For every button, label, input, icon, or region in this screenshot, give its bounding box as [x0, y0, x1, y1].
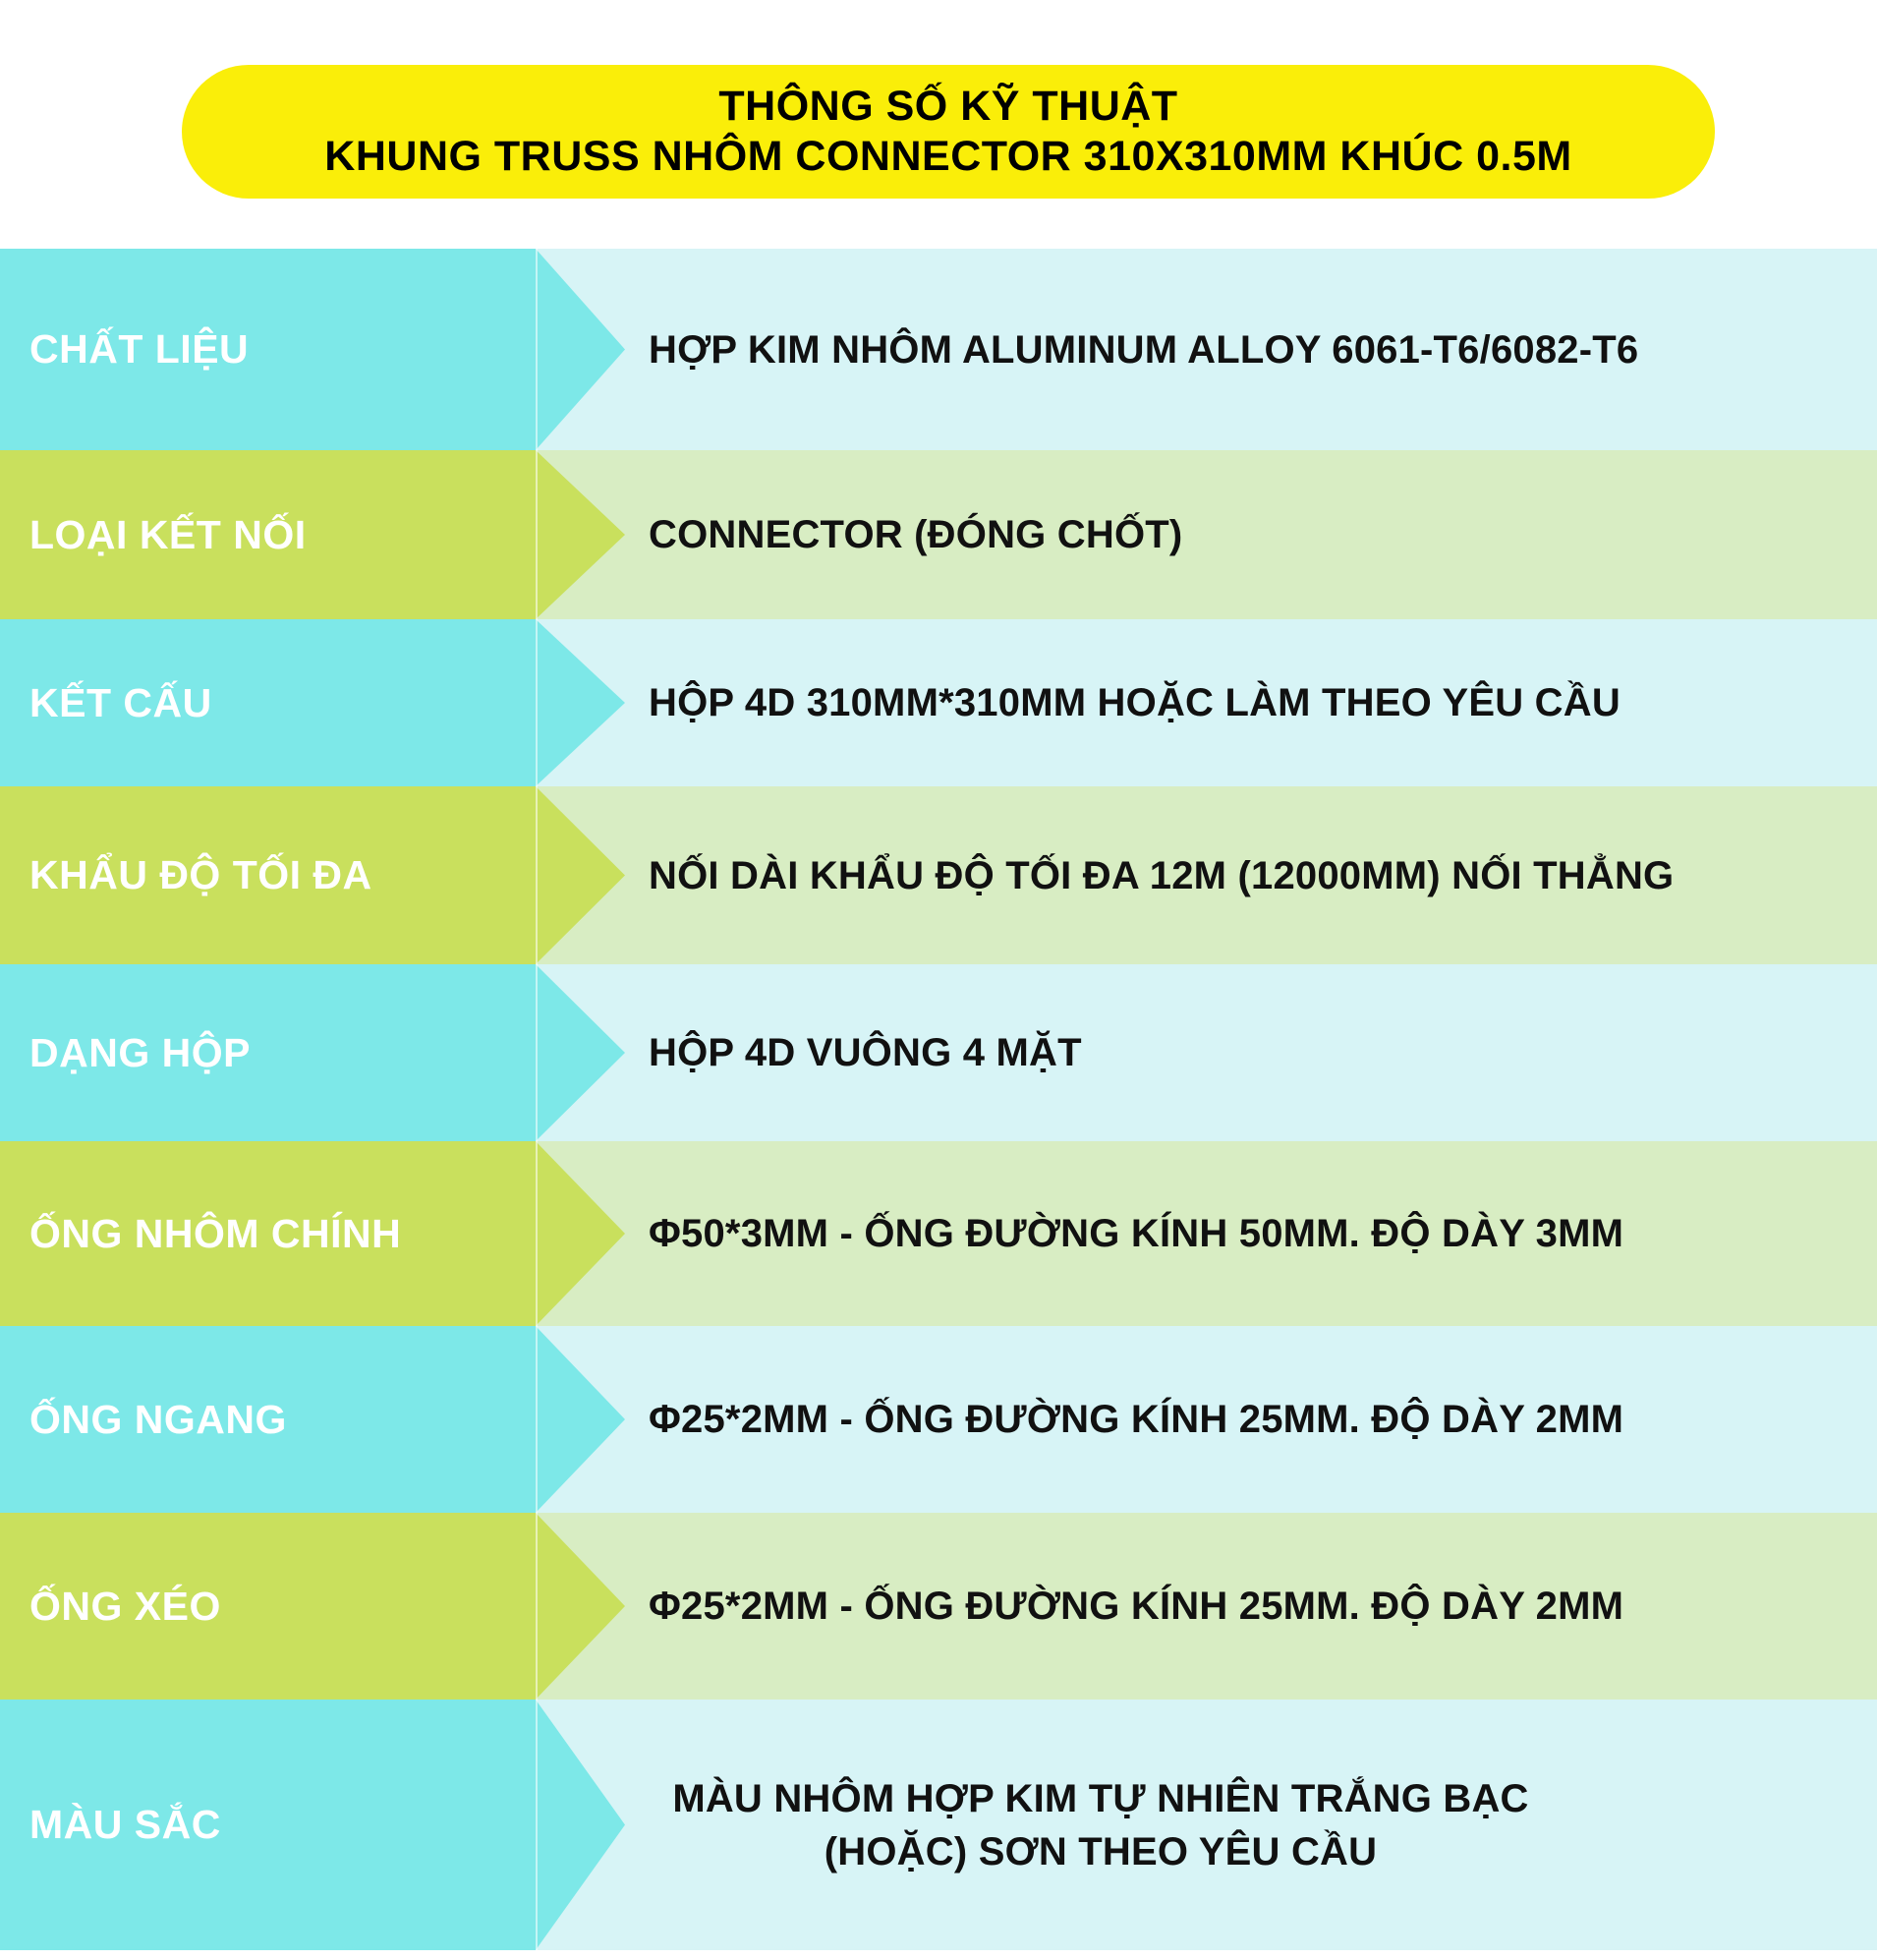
spec-row: CHẤT LIỆUHỢP KIM NHÔM ALUMINUM ALLOY 606… [0, 249, 1877, 450]
spec-row: ỐNG XÉOΦ25*2MM - ỐNG ĐƯỜNG KÍNH 25MM. ĐỘ… [0, 1513, 1877, 1700]
spec-label-text: ỐNG NGANG [29, 1398, 521, 1442]
spec-value-text: Φ50*3MM - ỐNG ĐƯỜNG KÍNH 50MM. ĐỘ DÀY 3M… [649, 1207, 1867, 1260]
spec-value-text: Φ25*2MM - ỐNG ĐƯỜNG KÍNH 25MM. ĐỘ DÀY 2M… [649, 1580, 1867, 1633]
spec-value-text: CONNECTOR (ĐÓNG CHỐT) [649, 508, 1867, 561]
spec-row: MÀU SẮCMÀU NHÔM HỢP KIM TỰ NHIÊN TRẮNG B… [0, 1700, 1877, 1950]
spec-value-text: Φ25*2MM - ỐNG ĐƯỜNG KÍNH 25MM. ĐỘ DÀY 2M… [649, 1393, 1867, 1446]
spec-value-line-1: MÀU NHÔM HỢP KIM TỰ NHIÊN TRẮNG BẠC [649, 1772, 1553, 1825]
spec-row: LOẠI KẾT NỐICONNECTOR (ĐÓNG CHỐT) [0, 450, 1877, 619]
label-divider [536, 786, 538, 964]
spec-row: KHẨU ĐỘ TỐI ĐANỐI DÀI KHẨU ĐỘ TỐI ĐA 12M… [0, 786, 1877, 964]
label-divider [536, 1700, 538, 1950]
spec-label-text: KẾT CẤU [29, 681, 521, 725]
label-divider [536, 619, 538, 786]
title-banner-area: THÔNG SỐ KỸ THUẬT KHUNG TRUSS NHÔM CONNE… [0, 0, 1877, 211]
spec-value-line-2: (HOẶC) SƠN THEO YÊU CẦU [649, 1825, 1553, 1878]
title-banner: THÔNG SỐ KỸ THUẬT KHUNG TRUSS NHÔM CONNE… [182, 65, 1715, 199]
spec-label-text: ỐNG NHÔM CHÍNH [29, 1212, 521, 1256]
spec-value-text: HỘP 4D 310MM*310MM HOẶC LÀM THEO YÊU CẦU [649, 676, 1867, 729]
spec-label-text: CHẤT LIỆU [29, 327, 521, 372]
spec-value-text: MÀU NHÔM HỢP KIM TỰ NHIÊN TRẮNG BẠC(HOẶC… [649, 1772, 1553, 1878]
label-divider [536, 450, 538, 619]
title-line-1: THÔNG SỐ KỸ THUẬT [718, 82, 1177, 132]
spec-row: DẠNG HỘPHỘP 4D VUÔNG 4 MẶT [0, 964, 1877, 1141]
label-divider [536, 1513, 538, 1700]
label-divider [536, 249, 538, 450]
spec-value-text: HỢP KIM NHÔM ALUMINUM ALLOY 6061-T6/6082… [649, 323, 1867, 376]
spec-value-text: HỘP 4D VUÔNG 4 MẶT [649, 1026, 1867, 1079]
title-line-2: KHUNG TRUSS NHÔM CONNECTOR 310X310MM KHÚ… [324, 132, 1571, 182]
spec-value-text: NỐI DÀI KHẨU ĐỘ TỐI ĐA 12M (12000MM) NỐI… [649, 849, 1867, 902]
spec-row: KẾT CẤU HỘP 4D 310MM*310MM HOẶC LÀM THEO… [0, 619, 1877, 786]
label-divider [536, 1326, 538, 1513]
spec-label-text: LOẠI KẾT NỐI [29, 513, 521, 557]
spec-label-text: DẠNG HỘP [29, 1031, 521, 1075]
spec-label-text: MÀU SẮC [29, 1803, 521, 1847]
label-divider [536, 1141, 538, 1326]
spec-table: CHẤT LIỆUHỢP KIM NHÔM ALUMINUM ALLOY 606… [0, 249, 1877, 1950]
label-divider [536, 964, 538, 1141]
spec-label-text: KHẨU ĐỘ TỐI ĐA [29, 853, 521, 897]
spec-label-text: ỐNG XÉO [29, 1585, 521, 1629]
spec-row: ỐNG NHÔM CHÍNH Φ50*3MM - ỐNG ĐƯỜNG KÍNH … [0, 1141, 1877, 1326]
spec-row: ỐNG NGANGΦ25*2MM - ỐNG ĐƯỜNG KÍNH 25MM. … [0, 1326, 1877, 1513]
